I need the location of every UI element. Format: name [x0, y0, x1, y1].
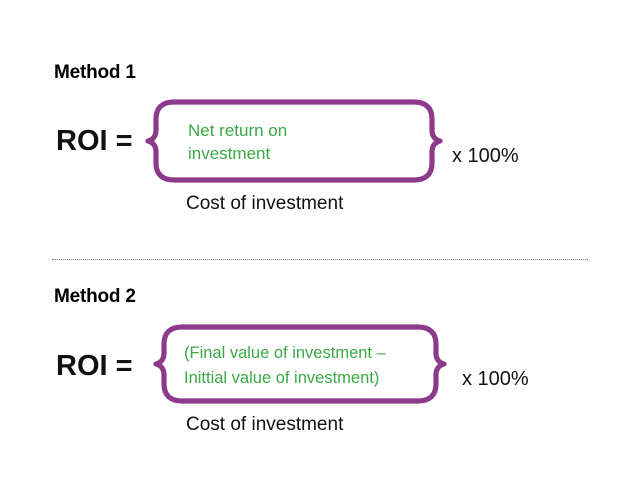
- method-1-denominator-text: Cost of investment: [186, 193, 343, 215]
- method-2-heading: Method 2: [54, 286, 136, 308]
- figure-canvas: Method 1 ROI = Net return on investment …: [0, 0, 640, 480]
- method-1-numerator-brace: Net return on investment: [148, 98, 440, 184]
- method-1-roi-equals-label: ROI =: [56, 125, 133, 158]
- method-2-numerator-text: (Final value of investment – Inittial va…: [184, 341, 386, 391]
- method-2-numerator-brace: (Final value of investment – Inittial va…: [156, 323, 444, 405]
- method-2-roi-equals-label: ROI =: [56, 350, 133, 383]
- method-1-numerator-text: Net return on investment: [188, 119, 287, 165]
- section-divider: [52, 259, 588, 260]
- method-1-multiplier-text: x 100%: [452, 145, 519, 168]
- method-1-heading: Method 1: [54, 62, 136, 84]
- method-2-multiplier-text: x 100%: [462, 368, 529, 391]
- method-2-denominator-text: Cost of investment: [186, 414, 343, 436]
